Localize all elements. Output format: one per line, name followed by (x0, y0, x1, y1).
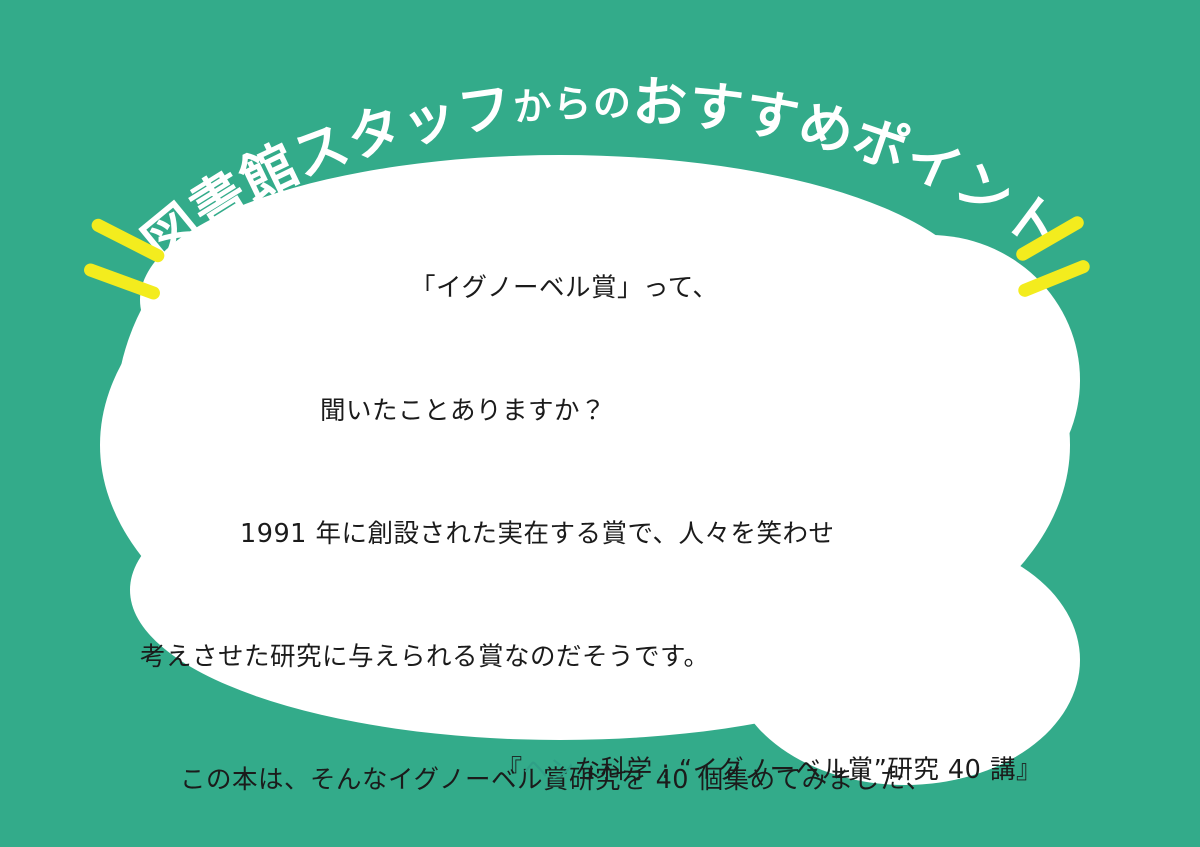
book-credit: 『ヘンな科学 : “イグノーベル賞”研究 40 講』 五十嵐杏南図書 ID 21… (140, 660, 1060, 847)
book-title-line: 『ヘンな科学 : “イグノーベル賞”研究 40 講』 (140, 748, 1060, 792)
title-rest: な科学 : “イグノーベル賞”研究 40 講 (575, 755, 1016, 785)
body-line: 「イグノーベル賞」って、 (140, 268, 1060, 309)
headline-seg-2: からの (512, 81, 632, 130)
title-bracket-open: 『 (497, 755, 523, 785)
title-highlight: ヘン (523, 755, 575, 785)
poster-canvas: 図書館スタッフからのおすすめポイント 「イグノーベル賞」って、 聞いたことありま… (0, 0, 1200, 847)
body-line: 聞いたことありますか？ (140, 391, 1060, 432)
title-bracket-close: 』 (1016, 755, 1042, 785)
body-line: 1991 年に創設された実在する賞で、人々を笑わせ (140, 514, 1060, 555)
